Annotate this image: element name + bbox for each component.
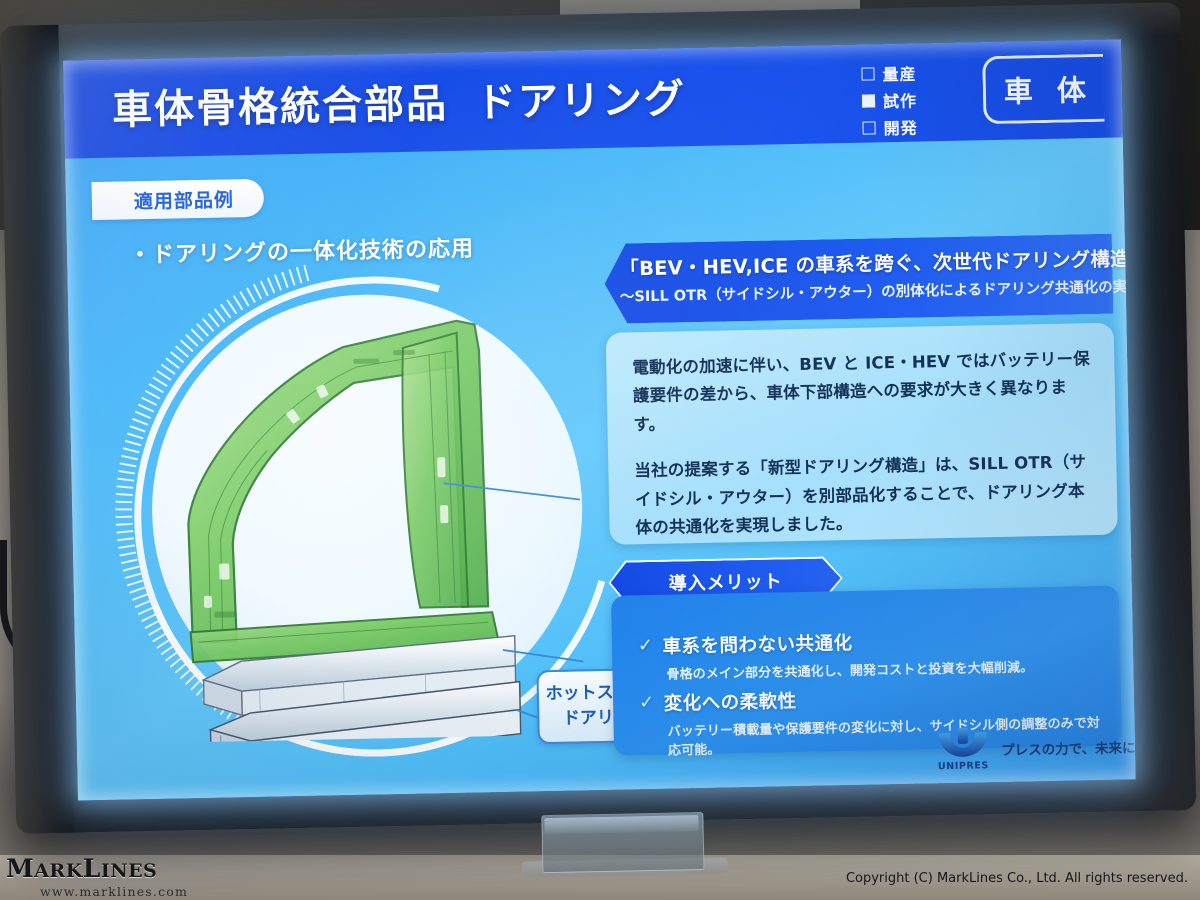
tick-mark — [127, 432, 144, 439]
section-pill: 適用部品例 — [92, 179, 265, 220]
tick-mark — [127, 579, 144, 586]
tick-mark — [115, 500, 132, 503]
checkbox-icon-prototype-checked[interactable] — [862, 94, 875, 107]
tick-mark — [123, 447, 140, 453]
tick-mark — [118, 470, 135, 475]
tick-mark — [117, 537, 134, 541]
checkbox-icon-development[interactable] — [862, 121, 875, 134]
tick-mark — [303, 265, 310, 282]
unipres-logo-wordmark: UNIPRES — [937, 760, 989, 772]
title-main: 車体骨格統合部品 — [112, 81, 449, 134]
marklines-watermark: MARKLINES www.marklines.com — [6, 856, 176, 899]
tick-mark — [141, 396, 157, 406]
tick-mark — [119, 462, 136, 467]
unipres-logo-block: UNIPRES プレスの力で、未来にプラ — [937, 723, 1136, 774]
ml-l: L — [83, 854, 101, 883]
benefit-title-2: 変化への柔軟性 — [663, 687, 797, 716]
hot-stamp-door-ring-body — [184, 320, 499, 662]
tick-mark — [129, 586, 146, 594]
monitor-stand-highlight — [544, 815, 698, 834]
status-label-prototype: 試作 — [883, 88, 917, 113]
tick-mark — [138, 403, 154, 412]
tick-mark — [135, 410, 152, 419]
tick-mark — [134, 599, 151, 608]
tick-mark — [116, 530, 133, 534]
tick-mark — [115, 515, 132, 518]
door-ring-illustration: ホットスタンプ ドアリング スチールプレス SILL-OTR or AL 押出し… — [85, 262, 625, 783]
marklines-wordmark: MARKLINES — [6, 856, 176, 881]
copyright-notice: Copyright (C) MarkLines Co., Ltd. All ri… — [846, 871, 1188, 886]
description-card: 電動化の加速に伴い、BEV と ICE・HEV ではバッテリー保護要件の差から、… — [606, 323, 1118, 545]
ml-ark: ARK — [34, 860, 83, 882]
tick-mark — [260, 280, 269, 296]
status-label-mass-production: 量産 — [882, 61, 916, 86]
category-badge-label: 車 体 — [996, 67, 1093, 111]
ml-m: M — [6, 854, 34, 883]
tick-mark — [121, 454, 138, 460]
tick-mark — [274, 274, 282, 291]
status-checkbox-group: 量産 試作 開発 — [861, 60, 971, 143]
door-ring-diagram — [156, 304, 585, 742]
tick-mark — [125, 439, 142, 446]
description-paragraph-2: 当社の提案する「新型ドアリング構造」は、SILL OTR（サイドシル・アウター）… — [634, 448, 1096, 542]
section-pill-label: 適用部品例 — [134, 185, 235, 214]
tick-mark — [281, 271, 289, 288]
tick-mark — [124, 572, 141, 579]
unipres-logo-icon: UNIPRES — [937, 726, 990, 773]
tick-mark — [116, 522, 133, 525]
tick-mark — [288, 269, 296, 286]
description-paragraph-1: 電動化の加速に伴い、BEV と ICE・HEV ではバッテリー保護要件の差から、… — [632, 345, 1094, 439]
tick-mark — [116, 485, 133, 489]
status-row-development[interactable]: 開発 — [862, 113, 970, 139]
photograph: 車体骨格統合部品ドアリング 量産 試作 開発 — [0, 0, 1200, 900]
benefit-item-1: ✓ 車系を問わない共通化 骨格のメイン部分を共通化し、開発コストと投資を大幅削減… — [638, 624, 1109, 683]
tick-mark — [118, 544, 135, 549]
status-row-prototype[interactable]: 試作 — [862, 86, 970, 112]
display-monitor: 車体骨格統合部品ドアリング 量産 試作 開発 — [0, 2, 1196, 836]
status-row-mass-production[interactable]: 量産 — [861, 60, 969, 86]
benefit-detail-1: 骨格のメイン部分を共通化し、開発コストと投資を大幅削減。 — [666, 655, 1108, 683]
tick-mark — [121, 558, 138, 564]
screen[interactable]: 車体骨格統合部品ドアリング 量産 試作 開発 — [63, 39, 1136, 800]
tick-mark — [129, 425, 146, 433]
page-title: 車体骨格統合部品ドアリング — [111, 66, 686, 136]
benefit-title-1: 車系を問わない共通化 — [662, 629, 852, 659]
tick-mark — [122, 565, 139, 571]
category-badge: 車 体 — [982, 54, 1104, 124]
unipres-tagline: プレスの力で、未来にプラ — [1001, 736, 1136, 759]
tick-mark — [267, 277, 276, 294]
tick-mark — [116, 493, 133, 496]
marklines-url: www.marklines.com — [40, 884, 176, 899]
checkbox-icon-mass-production[interactable] — [861, 67, 874, 80]
title-sub: ドアリング — [476, 76, 687, 126]
tick-mark — [132, 593, 149, 601]
tick-mark — [119, 551, 136, 556]
tick-mark — [117, 477, 134, 481]
tick-mark — [296, 267, 303, 284]
status-label-development: 開発 — [883, 115, 917, 140]
check-icon-benefit-1: ✓ — [638, 637, 654, 655]
tick-mark — [115, 508, 132, 510]
check-icon-benefit-2: ✓ — [639, 694, 655, 712]
tick-mark — [132, 417, 149, 425]
ml-ines: INES — [101, 860, 157, 882]
slide-canvas: 車体骨格統合部品ドアリング 量産 試作 開発 — [63, 39, 1136, 800]
